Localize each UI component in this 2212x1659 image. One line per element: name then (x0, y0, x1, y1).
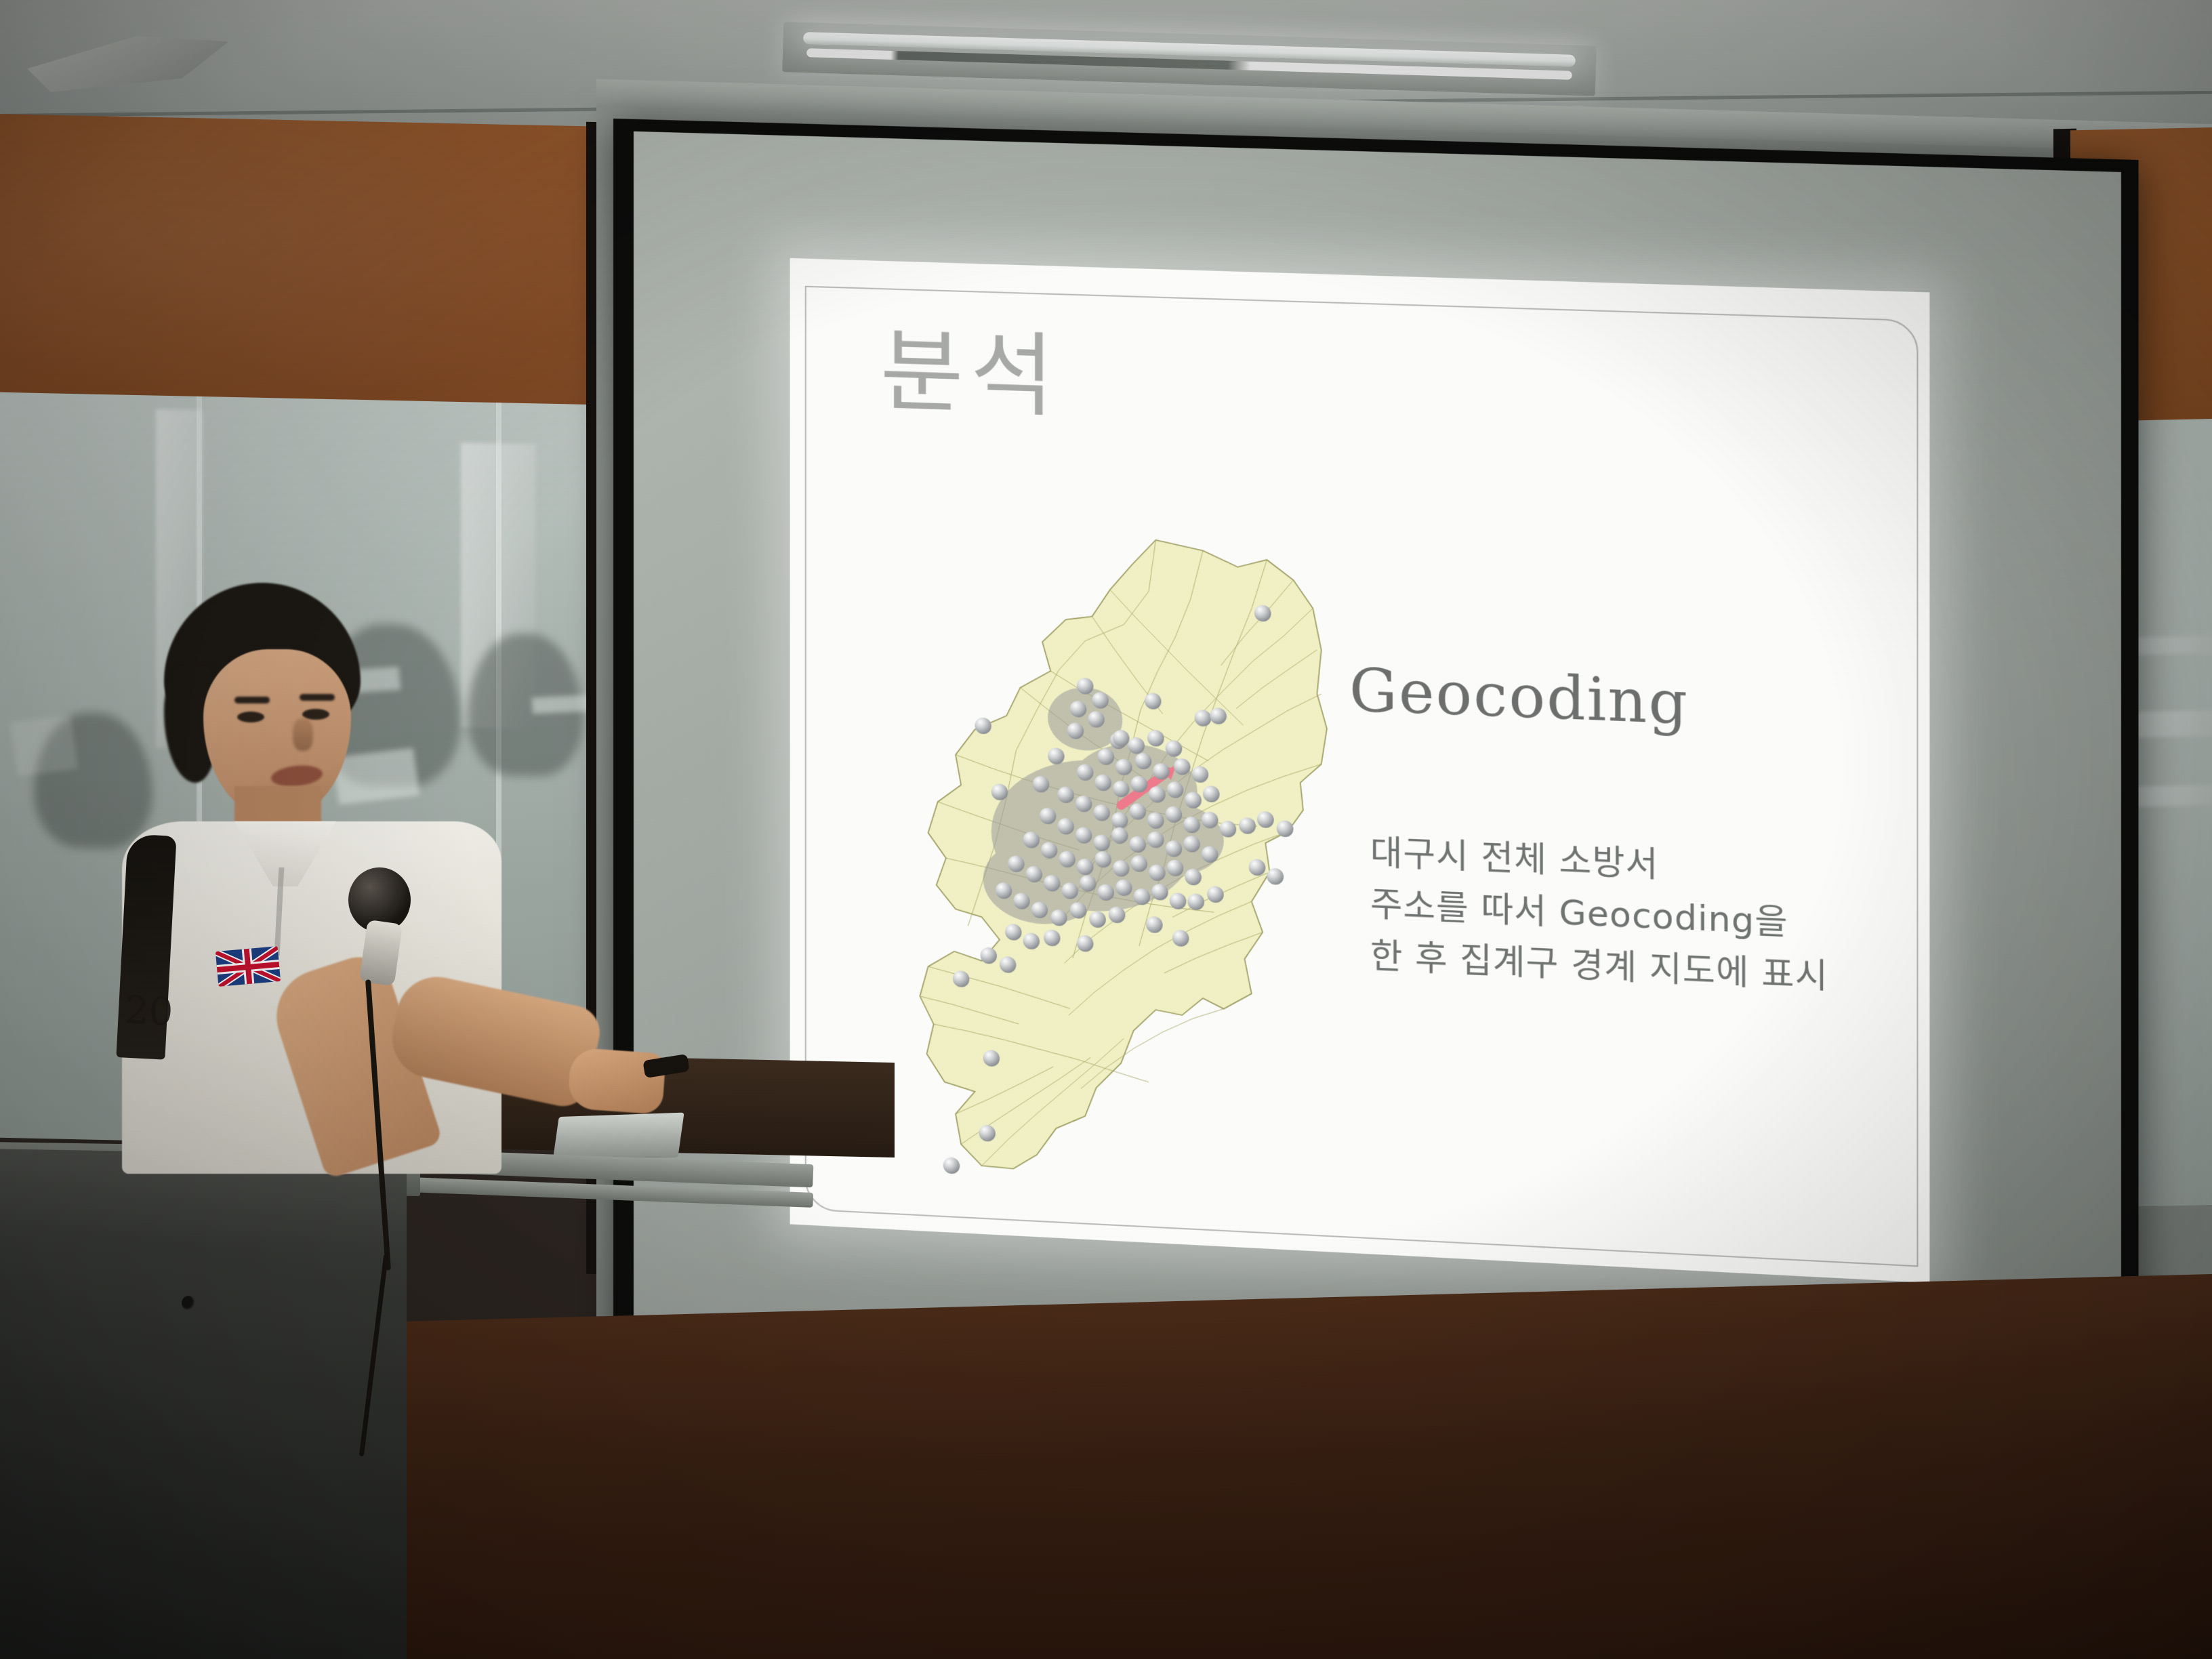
desk-reflection (10, 715, 78, 776)
photo-scene: 분석 (0, 0, 2212, 1659)
nose (293, 718, 313, 751)
projection-screen-surface: 분석 (634, 131, 2121, 1458)
eye (237, 712, 264, 722)
union-jack-flag-patch (216, 946, 281, 987)
eyebrow (300, 694, 335, 701)
presenter: 20 (102, 583, 590, 1166)
podium-fastener (182, 1296, 195, 1311)
eyebrow (234, 697, 270, 703)
podium (0, 1149, 407, 1659)
daegu-choropleth-map (879, 506, 1349, 1212)
projection-screen: 분석 (613, 119, 2139, 1477)
jersey-number: 20 (123, 988, 174, 1035)
projected-slide: 분석 (790, 258, 1930, 1283)
slide-body-text: 대구시 전체 소방서 주소를 따서 Geocoding을 한 후 집계구 경계 … (1370, 827, 1894, 1006)
presenter-right-hand (567, 1047, 666, 1115)
slide-heading: Geocoding (1349, 661, 1689, 733)
wood-wall-panel-left (0, 114, 644, 419)
slide-title: 분석 (880, 326, 1061, 422)
